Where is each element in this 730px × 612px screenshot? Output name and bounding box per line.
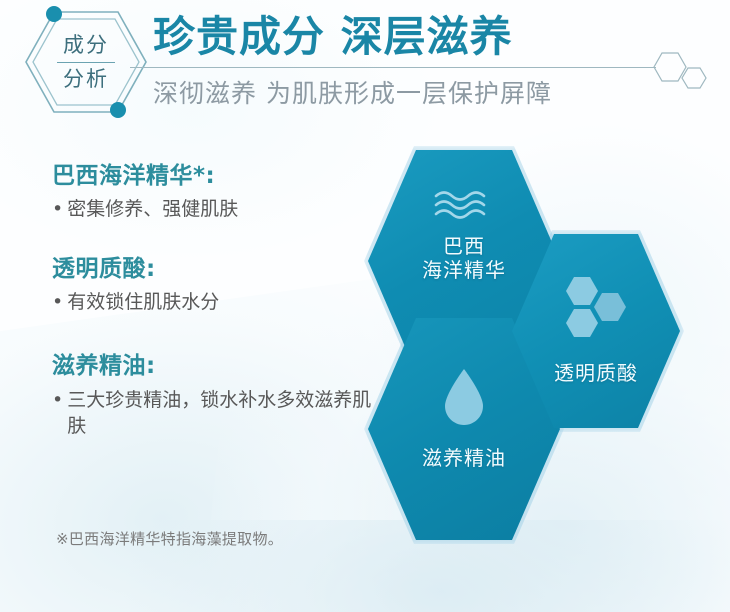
- hexagon-label-line1: 透明质酸: [554, 361, 638, 385]
- ingredient-list: 巴西海洋精华*: • 密集修养、强健肌肤 透明质酸: • 有效锁住肌肤水分 滋养…: [52, 160, 372, 464]
- badge-label-bottom: 分析: [63, 67, 109, 90]
- page-subtitle: 深彻滋养 为肌肤形成一层保护屏障: [153, 74, 552, 110]
- ingredient-heading: 滋养精油:: [52, 350, 372, 382]
- page-header: 成分 分析 珍贵成分 深层滋养 深彻滋养 为肌肤形成一层保护屏障: [0, 0, 730, 128]
- badge-divider: [57, 62, 115, 63]
- header-divider: [130, 67, 656, 68]
- badge-label-top: 成分: [63, 35, 109, 60]
- ingredient-heading: 透明质酸:: [52, 253, 372, 285]
- hexagon-label-line2: 海洋精华: [422, 258, 506, 282]
- hexagon-label-line1: 巴西: [422, 234, 506, 258]
- bullet-icon: •: [52, 196, 63, 223]
- hexagon-label: 滋养精油: [422, 446, 506, 470]
- ingredient-heading: 巴西海洋精华*:: [52, 160, 372, 192]
- bullet-icon: •: [52, 387, 63, 414]
- ingredient-detail-text: 三大珍贵精油，锁水补水多效滋养肌肤: [67, 387, 372, 441]
- ingredient-detail: • 三大珍贵精油，锁水补水多效滋养肌肤: [52, 387, 372, 441]
- ingredient-detail-text: 密集修养、强健肌肤: [67, 196, 372, 223]
- section-badge: 成分 分析: [22, 6, 150, 118]
- ingredient-detail: • 有效锁住肌肤水分: [52, 289, 372, 316]
- ingredient-item: 透明质酸: • 有效锁住肌肤水分: [52, 253, 372, 316]
- hexagon-label: 透明质酸: [554, 361, 638, 385]
- hexagon-label: 巴西 海洋精华: [422, 234, 506, 283]
- molecule-hexagons-icon: [562, 273, 630, 345]
- bullet-icon: •: [52, 289, 63, 316]
- page-title: 珍贵成分 深层滋养: [153, 12, 513, 62]
- hexagon-cluster: 巴西 海洋精华 滋养精油 透明质酸: [368, 150, 668, 480]
- section-badge-text: 成分 分析: [22, 6, 150, 118]
- hexagon-label-line1: 滋养精油: [422, 446, 506, 470]
- water-waves-icon: [433, 188, 495, 220]
- ingredient-item: 巴西海洋精华*: • 密集修养、强健肌肤: [52, 160, 372, 223]
- hexagon-pair-icon: [648, 44, 718, 94]
- ingredient-item: 滋养精油: • 三大珍贵精油，锁水补水多效滋养肌肤: [52, 350, 372, 440]
- footnote: ※巴西海洋精华特指海藻提取物。: [56, 528, 283, 549]
- ingredient-detail: • 密集修养、强健肌肤: [52, 196, 372, 223]
- ingredient-detail-text: 有效锁住肌肤水分: [67, 289, 372, 316]
- infographic-page: 成分 分析 珍贵成分 深层滋养 深彻滋养 为肌肤形成一层保护屏障 巴西海洋精华*…: [0, 0, 730, 612]
- water-droplet-icon: [441, 366, 487, 428]
